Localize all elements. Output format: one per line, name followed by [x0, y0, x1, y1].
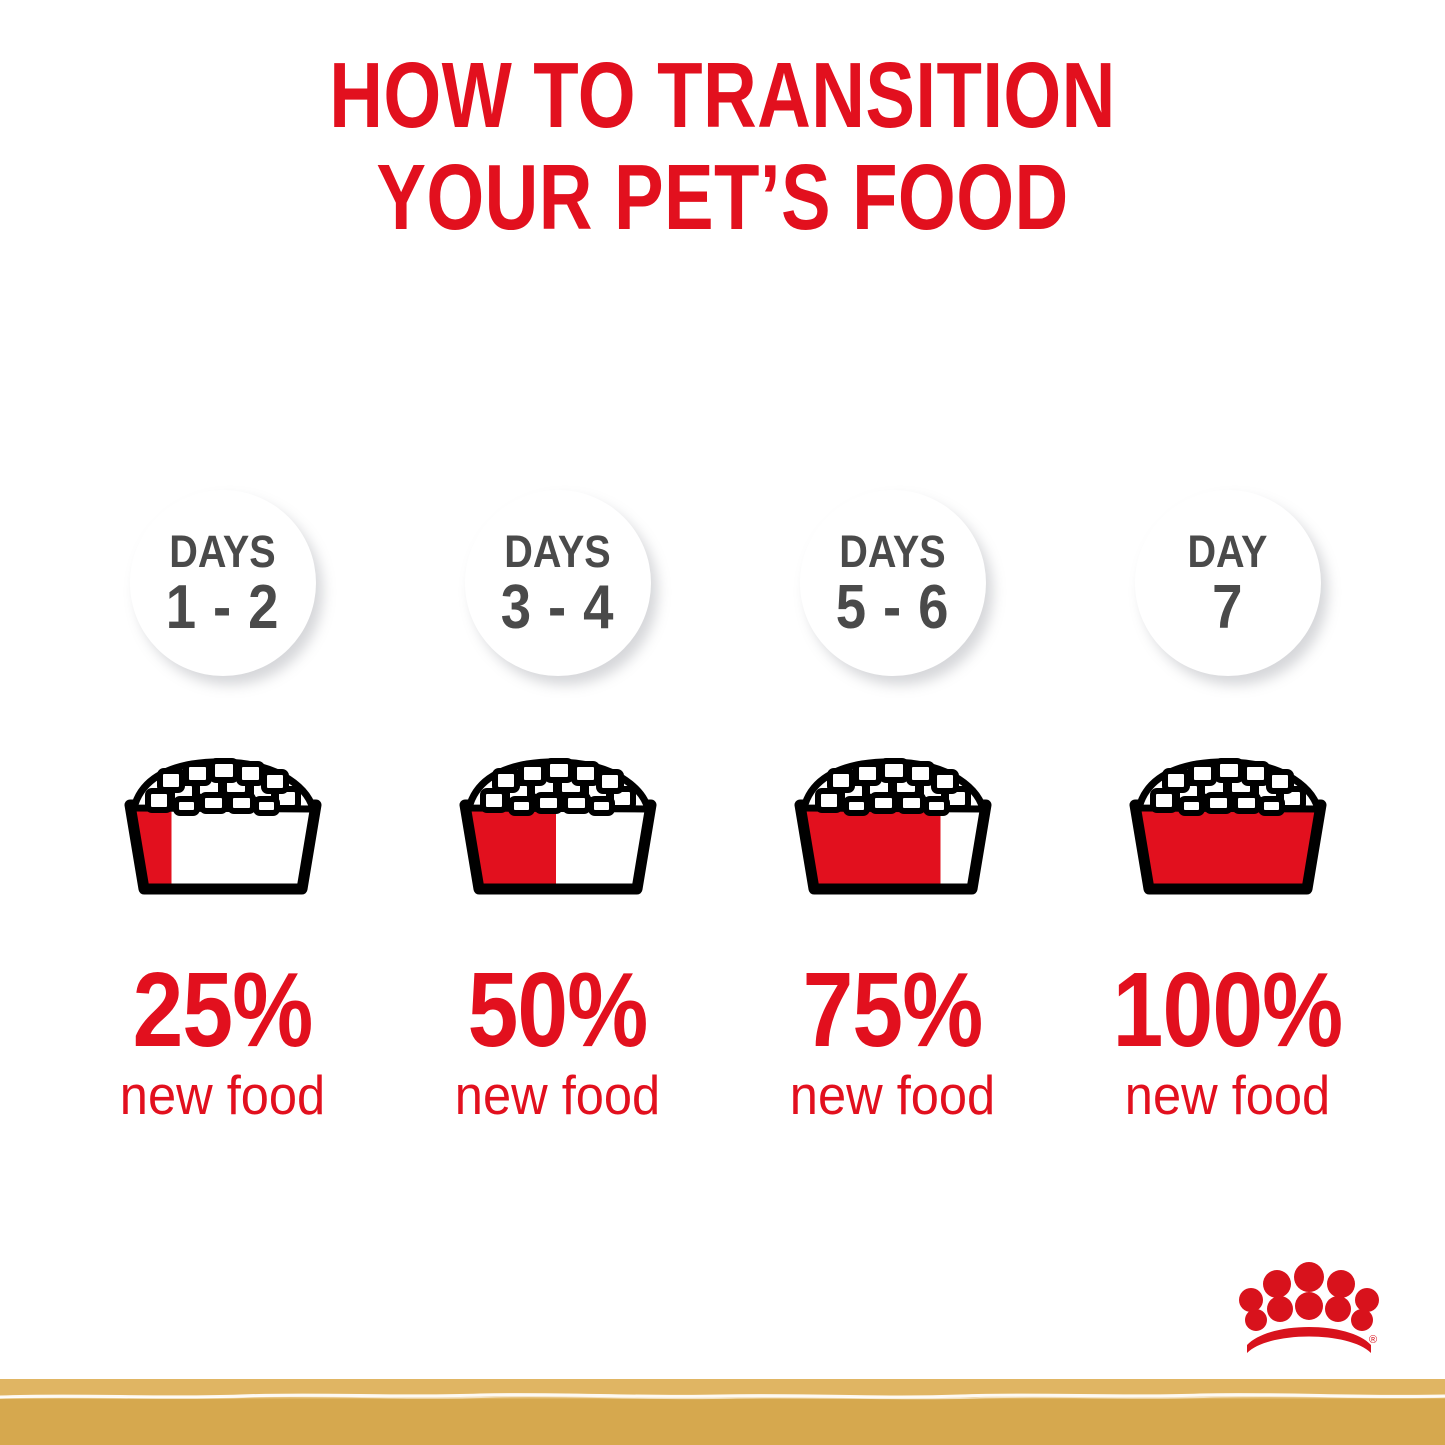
percent-block: 75% new food	[755, 957, 1030, 1127]
percent-block: 50% new food	[420, 957, 695, 1127]
food-bowl-icon	[92, 753, 354, 905]
transition-steps: DAYS 1 - 2	[85, 490, 1365, 1130]
food-bowl-wrapper	[420, 730, 695, 905]
royal-canin-crown-logo: ®	[1239, 1257, 1379, 1357]
percent-value: 100%	[1109, 957, 1346, 1063]
day-badge-value: 3 - 4	[501, 575, 615, 641]
day-badge-wrapper: DAY 7	[1090, 490, 1365, 700]
gold-footer-bar	[0, 1379, 1445, 1445]
transition-step: DAYS 1 - 2	[85, 490, 360, 1130]
percent-value: 75%	[774, 957, 1011, 1063]
percent-caption: new food	[431, 1063, 684, 1127]
percent-block: 25% new food	[85, 957, 360, 1127]
page-title: HOW TO TRANSITION YOUR PET’S FOOD	[0, 44, 1445, 248]
food-bowl-icon	[762, 753, 1024, 905]
day-badge-value: 7	[1212, 575, 1243, 641]
percent-value: 25%	[104, 957, 341, 1063]
day-badge-label: DAY	[1188, 529, 1268, 575]
day-badge: DAY 7	[1135, 490, 1321, 676]
footer-brush-streak	[0, 1392, 1445, 1401]
day-badge: DAYS 3 - 4	[465, 490, 651, 676]
day-badge-wrapper: DAYS 5 - 6	[755, 490, 1030, 700]
food-bowl-wrapper	[85, 730, 360, 905]
infographic-page: HOW TO TRANSITION YOUR PET’S FOOD DAYS 1…	[0, 0, 1445, 1445]
day-badge-wrapper: DAYS 3 - 4	[420, 490, 695, 700]
food-bowl-wrapper	[755, 730, 1030, 905]
day-badge-label: DAYS	[169, 529, 275, 575]
percent-caption: new food	[1101, 1063, 1354, 1127]
food-bowl-icon	[1097, 753, 1359, 905]
percent-value: 50%	[439, 957, 676, 1063]
food-bowl-wrapper	[1090, 730, 1365, 905]
registered-trademark-mark: ®	[1369, 1334, 1377, 1346]
day-badge: DAYS 5 - 6	[800, 490, 986, 676]
percent-block: 100% new food	[1090, 957, 1365, 1127]
day-badge: DAYS 1 - 2	[130, 490, 316, 676]
day-badge-value: 5 - 6	[836, 575, 950, 641]
day-badge-wrapper: DAYS 1 - 2	[85, 490, 360, 700]
food-bowl-icon	[427, 753, 689, 905]
day-badge-label: DAYS	[839, 529, 945, 575]
page-title-line-1: HOW TO TRANSITION	[145, 44, 1301, 146]
percent-caption: new food	[766, 1063, 1019, 1127]
transition-step: DAY 7	[1090, 490, 1365, 1130]
day-badge-label: DAYS	[504, 529, 610, 575]
transition-step: DAYS 5 - 6	[755, 490, 1030, 1130]
day-badge-value: 1 - 2	[166, 575, 280, 641]
percent-caption: new food	[96, 1063, 349, 1127]
transition-step: DAYS 3 - 4	[420, 490, 695, 1130]
page-title-line-2: YOUR PET’S FOOD	[145, 146, 1301, 248]
